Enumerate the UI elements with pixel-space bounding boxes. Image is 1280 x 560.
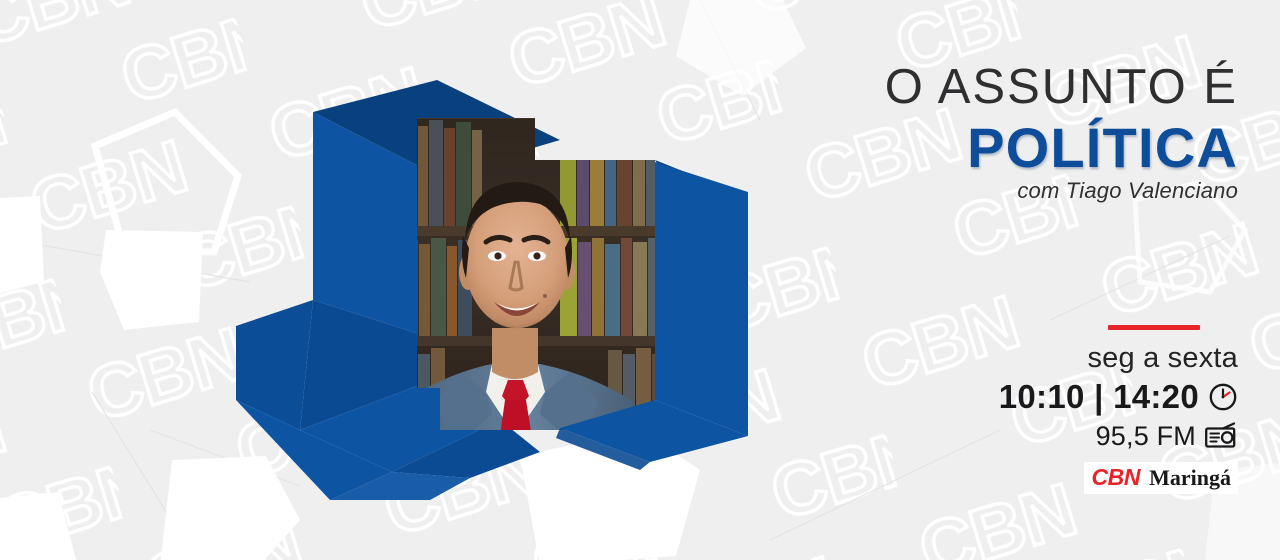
radio-frequency: 95,5 FM: [1096, 420, 1196, 452]
show-title-line1: O ASSUNTO É: [885, 60, 1238, 114]
radio-icon: [1204, 422, 1238, 450]
red-divider-rule: [1108, 325, 1200, 330]
broadcast-days: seg a sexta: [928, 341, 1238, 375]
station-logo: CBN Maringá: [928, 462, 1238, 494]
schedule-block: seg a sexta 10:10 | 14:20 95,5 FM: [928, 325, 1238, 494]
broadcast-times-row: 10:10 | 14:20: [928, 378, 1238, 416]
show-title-line2: POLÍTICA: [967, 118, 1238, 178]
frequency-row: 95,5 FM: [928, 420, 1238, 452]
cbn-logo-text: CBN: [1091, 464, 1140, 491]
station-city-name: Maringá: [1149, 465, 1231, 491]
broadcast-times: 10:10 | 14:20: [999, 378, 1199, 416]
clock-icon: [1208, 382, 1238, 412]
show-host-subtitle: com Tiago Valenciano: [1017, 176, 1238, 206]
radio-show-banner: CBN CBN: [0, 0, 1280, 560]
